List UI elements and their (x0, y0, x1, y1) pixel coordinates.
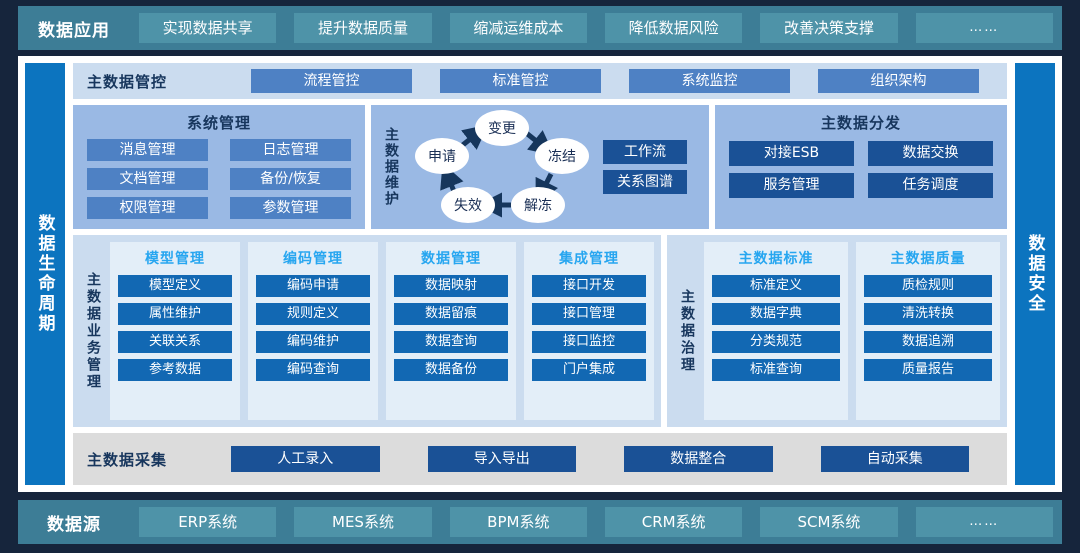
column-head: 模型管理 (118, 248, 232, 268)
data-lifecycle-sidebar: 数据生命周期 (25, 63, 65, 485)
list-item[interactable]: 质检规则 (864, 275, 992, 297)
distribution-item-exchange[interactable]: 数据交换 (868, 141, 993, 166)
list-item[interactable]: 标准查询 (712, 359, 840, 381)
distribution-title: 主数据分发 (715, 105, 1007, 133)
data-source-bar: 数据源 ERP系统 MES系统 BPM系统 CRM系统 SCM系统 …… (18, 500, 1062, 544)
system-item-document[interactable]: 文档管理 (87, 168, 208, 190)
distribution-item-esb[interactable]: 对接ESB (729, 141, 854, 166)
distribution-item-service[interactable]: 服务管理 (729, 173, 854, 198)
governance-column-standard: 主数据标准 标准定义 数据字典 分类规范 标准查询 (704, 242, 848, 420)
system-item-parameter[interactable]: 参数管理 (230, 197, 351, 219)
list-item[interactable]: 分类规范 (712, 331, 840, 353)
list-item[interactable]: 编码申请 (256, 275, 370, 297)
collection-item-import-export[interactable]: 导入导出 (428, 446, 577, 472)
business-management-section: 主数据业务管理 模型管理 模型定义 属性维护 关联关系 参考数据 编码管理 编码… (73, 235, 661, 427)
list-item[interactable]: 数据映射 (394, 275, 508, 297)
list-item[interactable]: 关联关系 (118, 331, 232, 353)
control-item-standard[interactable]: 标准管控 (440, 69, 601, 93)
list-item[interactable]: 质量报告 (864, 359, 992, 381)
control-item-org[interactable]: 组织架构 (818, 69, 979, 93)
system-management-grid: 消息管理 日志管理 文档管理 备份/恢复 权限管理 参数管理 (73, 133, 365, 219)
lifecycle-state-diagram: 变更 冻结 解冻 失效 申请 (407, 108, 597, 226)
master-data-control-label: 主数据管控 (87, 71, 237, 92)
column-head: 主数据质量 (864, 248, 992, 268)
list-item[interactable]: 参考数据 (118, 359, 232, 381)
lower-sections-row: 主数据业务管理 模型管理 模型定义 属性维护 关联关系 参考数据 编码管理 编码… (73, 235, 1007, 427)
data-application-items: 实现数据共享 提升数据质量 缩减运维成本 降低数据风险 改善决策支撑 …… (130, 13, 1062, 43)
collection-item-manual[interactable]: 人工录入 (231, 446, 380, 472)
list-item[interactable]: 接口管理 (532, 303, 646, 325)
governance-columns: 主数据标准 标准定义 数据字典 分类规范 标准查询 主数据质量 质检规则 清洗转… (700, 242, 1000, 420)
state-node-apply[interactable]: 申请 (415, 138, 469, 174)
collection-items: 人工录入 导入导出 数据整合 自动采集 (207, 446, 993, 472)
list-item[interactable]: 数据字典 (712, 303, 840, 325)
list-item[interactable]: 数据查询 (394, 331, 508, 353)
column-head: 主数据标准 (712, 248, 840, 268)
business-column-coding: 编码管理 编码申请 规则定义 编码维护 编码查询 (248, 242, 378, 420)
list-item[interactable]: 属性维护 (118, 303, 232, 325)
maintenance-button-workflow[interactable]: 工作流 (603, 140, 687, 164)
state-node-freeze[interactable]: 冻结 (535, 138, 589, 174)
master-data-control-items: 流程管控 标准管控 系统监控 组织架构 (237, 69, 993, 93)
system-item-permission[interactable]: 权限管理 (87, 197, 208, 219)
distribution-item-schedule[interactable]: 任务调度 (868, 173, 993, 198)
master-data-maintenance-panel: 主数据维护 (371, 105, 709, 229)
maintenance-buttons: 工作流 关系图谱 (603, 140, 687, 194)
business-columns: 模型管理 模型定义 属性维护 关联关系 参考数据 编码管理 编码申请 规则定义 … (106, 242, 654, 420)
list-item[interactable]: 编码维护 (256, 331, 370, 353)
list-item[interactable]: 清洗转换 (864, 303, 992, 325)
data-source-item-more[interactable]: …… (916, 507, 1053, 537)
master-data-distribution-panel: 主数据分发 对接ESB 数据交换 服务管理 任务调度 (715, 105, 1007, 229)
data-application-item[interactable]: 改善决策支撑 (760, 13, 897, 43)
data-security-sidebar: 数据安全 (1015, 63, 1055, 485)
data-source-item-erp[interactable]: ERP系统 (139, 507, 276, 537)
list-item[interactable]: 规则定义 (256, 303, 370, 325)
data-source-item-crm[interactable]: CRM系统 (605, 507, 742, 537)
system-management-title: 系统管理 (73, 105, 365, 133)
governance-label: 主数据治理 (674, 242, 700, 420)
data-source-item-mes[interactable]: MES系统 (294, 507, 431, 537)
collection-item-integration[interactable]: 数据整合 (624, 446, 773, 472)
system-management-panel: 系统管理 消息管理 日志管理 文档管理 备份/恢复 权限管理 参数管理 (73, 105, 365, 229)
list-item[interactable]: 接口监控 (532, 331, 646, 353)
data-application-item-more[interactable]: …… (916, 13, 1053, 43)
maintenance-label: 主数据维护 (381, 127, 401, 207)
governance-section: 主数据治理 主数据标准 标准定义 数据字典 分类规范 标准查询 主数据质量 质检… (667, 235, 1007, 427)
list-item[interactable]: 数据备份 (394, 359, 508, 381)
business-management-label: 主数据业务管理 (80, 242, 106, 420)
control-item-process[interactable]: 流程管控 (251, 69, 412, 93)
list-item[interactable]: 接口开发 (532, 275, 646, 297)
list-item[interactable]: 模型定义 (118, 275, 232, 297)
state-node-unfreeze[interactable]: 解冻 (511, 187, 565, 223)
business-column-data: 数据管理 数据映射 数据留痕 数据查询 数据备份 (386, 242, 516, 420)
column-head: 集成管理 (532, 248, 646, 268)
business-column-integration: 集成管理 接口开发 接口管理 接口监控 门户集成 (524, 242, 654, 420)
list-item[interactable]: 数据留痕 (394, 303, 508, 325)
list-item[interactable]: 数据追溯 (864, 331, 992, 353)
state-node-change[interactable]: 变更 (475, 110, 529, 146)
business-column-model: 模型管理 模型定义 属性维护 关联关系 参考数据 (110, 242, 240, 420)
list-item[interactable]: 标准定义 (712, 275, 840, 297)
data-application-item[interactable]: 降低数据风险 (605, 13, 742, 43)
system-item-log[interactable]: 日志管理 (230, 139, 351, 161)
middle-panels-row: 系统管理 消息管理 日志管理 文档管理 备份/恢复 权限管理 参数管理 主数据维… (73, 105, 1007, 229)
main-frame: 数据生命周期 主数据管控 流程管控 标准管控 系统监控 组织架构 系统管理 消 (18, 56, 1062, 492)
data-application-item[interactable]: 实现数据共享 (139, 13, 276, 43)
data-source-item-bpm[interactable]: BPM系统 (450, 507, 587, 537)
maintenance-button-relation-graph[interactable]: 关系图谱 (603, 170, 687, 194)
data-application-item[interactable]: 提升数据质量 (294, 13, 431, 43)
list-item[interactable]: 编码查询 (256, 359, 370, 381)
data-source-item-scm[interactable]: SCM系统 (760, 507, 897, 537)
center-column: 主数据管控 流程管控 标准管控 系统监控 组织架构 系统管理 消息管理 日志管理… (73, 63, 1007, 485)
system-item-backup[interactable]: 备份/恢复 (230, 168, 351, 190)
column-head: 编码管理 (256, 248, 370, 268)
data-source-title: 数据源 (18, 510, 130, 535)
list-item[interactable]: 门户集成 (532, 359, 646, 381)
governance-column-quality: 主数据质量 质检规则 清洗转换 数据追溯 质量报告 (856, 242, 1000, 420)
data-application-item[interactable]: 缩减运维成本 (450, 13, 587, 43)
state-node-invalid[interactable]: 失效 (441, 187, 495, 223)
collection-item-auto[interactable]: 自动采集 (821, 446, 970, 472)
data-source-items: ERP系统 MES系统 BPM系统 CRM系统 SCM系统 …… (130, 507, 1062, 537)
column-head: 数据管理 (394, 248, 508, 268)
architecture-diagram: 数据应用 实现数据共享 提升数据质量 缩减运维成本 降低数据风险 改善决策支撑 … (0, 0, 1080, 553)
master-data-collection-row: 主数据采集 人工录入 导入导出 数据整合 自动采集 (73, 433, 1007, 485)
distribution-grid: 对接ESB 数据交换 服务管理 任务调度 (715, 133, 1007, 198)
data-application-bar: 数据应用 实现数据共享 提升数据质量 缩减运维成本 降低数据风险 改善决策支撑 … (18, 6, 1062, 50)
master-data-control-row: 主数据管控 流程管控 标准管控 系统监控 组织架构 (73, 63, 1007, 99)
system-item-message[interactable]: 消息管理 (87, 139, 208, 161)
collection-label: 主数据采集 (87, 449, 207, 470)
control-item-monitor[interactable]: 系统监控 (629, 69, 790, 93)
data-application-title: 数据应用 (18, 16, 130, 41)
